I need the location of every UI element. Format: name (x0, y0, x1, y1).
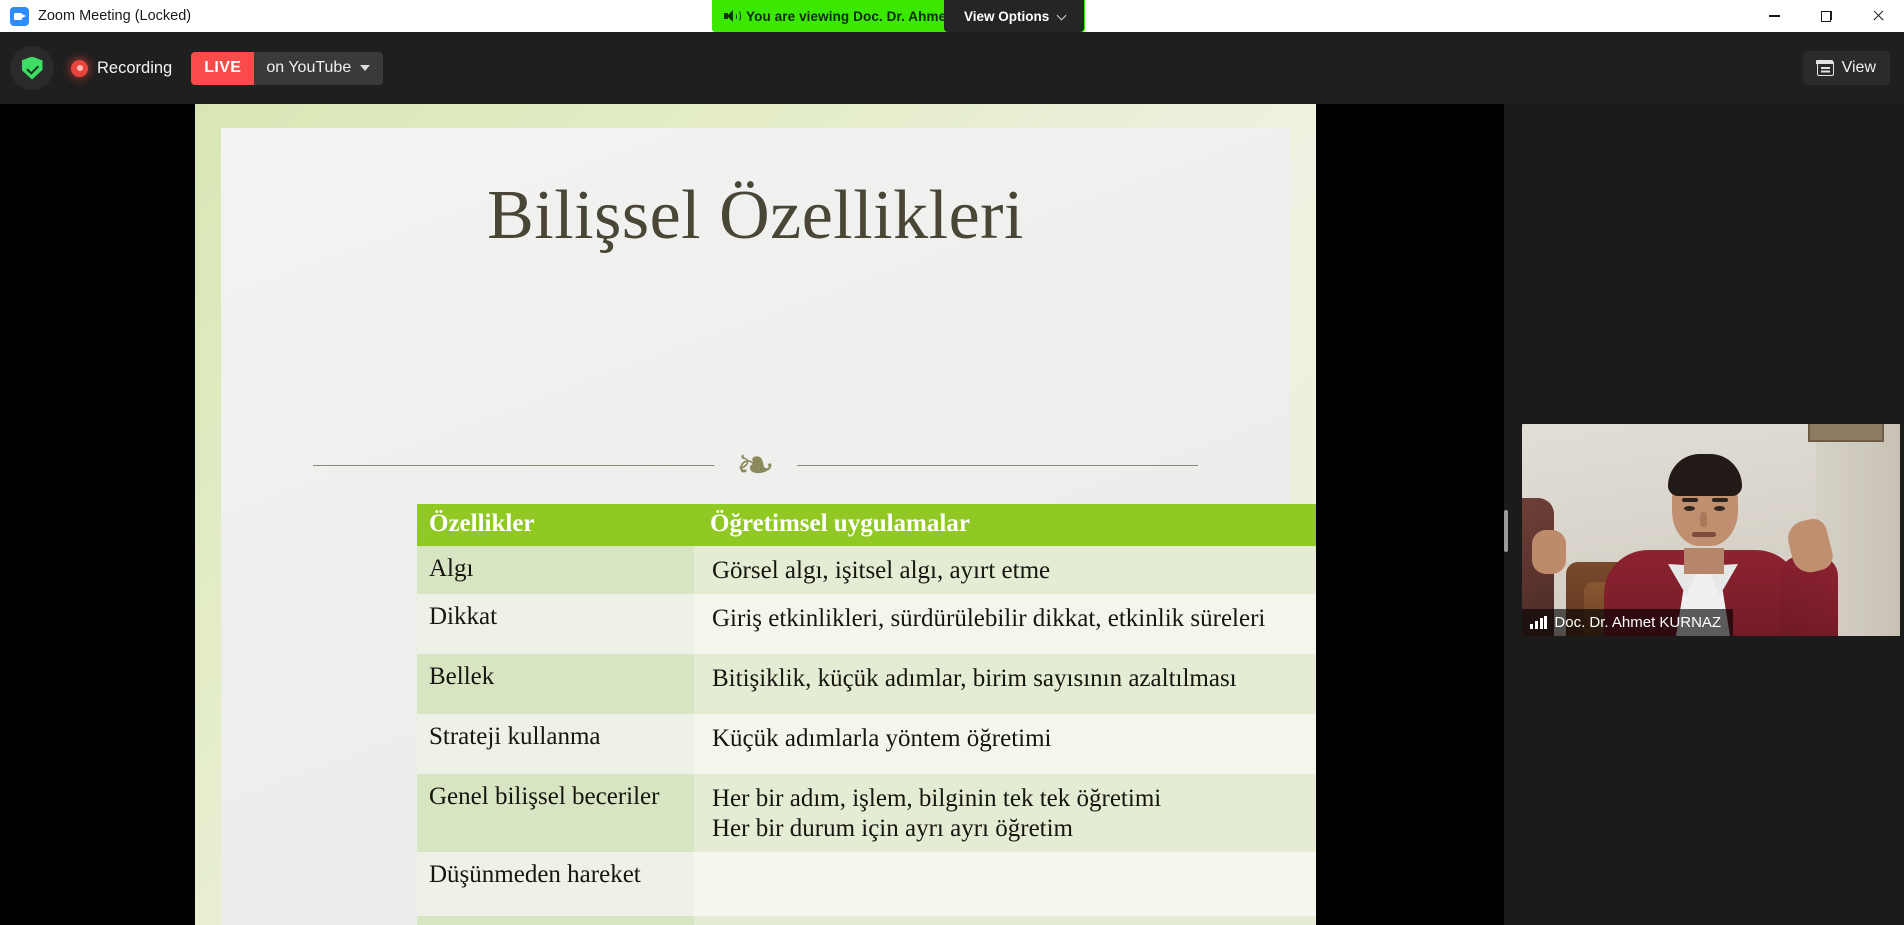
presentation-slide: Bilişsel Özellikleri ❧ Özellikler Öğreti… (195, 104, 1316, 925)
view-button[interactable]: View (1803, 51, 1890, 85)
participant-name: Doc. Dr. Ahmet KURNAZ (1554, 614, 1721, 631)
person-nose (1700, 512, 1707, 527)
person-mouth (1692, 532, 1716, 537)
minimize-button[interactable] (1748, 0, 1800, 32)
ornament-flourish-icon: ❧ (714, 444, 797, 488)
restore-icon (1821, 11, 1832, 22)
view-options-label: View Options (964, 9, 1049, 24)
table-row (417, 916, 1316, 925)
table-row: Dikkat Giriş etkinlikleri, sürdürülebili… (417, 594, 1316, 654)
signal-bars-icon (1530, 616, 1547, 629)
cell-practice (694, 852, 1316, 916)
window-title: Zoom Meeting (Locked) (38, 8, 191, 24)
table-row: Genel bilişsel beceriler Her bir adım, i… (417, 774, 1316, 852)
cell-practice: Görsel algı, işitsel algı, ayırt etme (694, 546, 1316, 594)
practice-line: Küçük adımlarla yöntem öğretimi (712, 724, 1316, 754)
person-neck (1684, 548, 1724, 574)
cell-practice: Bitişiklik, küçük adımlar, birim sayısın… (694, 654, 1316, 714)
person-hair (1668, 454, 1742, 496)
caret-down-icon (360, 65, 370, 71)
slide-divider: ❧ (313, 444, 1198, 488)
grid-view-icon (1817, 61, 1834, 76)
cell-practice: Her bir adım, işlem, bilginin tek tek öğ… (694, 774, 1316, 852)
cell-feature: Dikkat (417, 594, 694, 654)
practice-line: Görsel algı, işitsel algı, ayırt etme (712, 556, 1316, 586)
close-button[interactable] (1852, 0, 1904, 32)
cell-practice (694, 916, 1316, 925)
person-eye-left (1684, 506, 1695, 511)
person-eye-right (1714, 506, 1725, 511)
table-body: Algı Görsel algı, işitsel algı, ayırt et… (417, 546, 1316, 925)
column-header-practices: Öğretimsel uygulamalar (694, 504, 1316, 546)
features-table: Özellikler Öğretimsel uygulamalar Algı G… (417, 504, 1316, 925)
cell-feature: Düşünmeden hareket (417, 852, 694, 916)
video-background (1522, 424, 1900, 636)
participant-name-bar: Doc. Dr. Ahmet KURNAZ (1522, 609, 1733, 636)
cell-practice: Giriş etkinlikleri, sürdürülebilir dikka… (694, 594, 1316, 654)
stage-letterbox-right (1316, 104, 1504, 925)
restore-button[interactable] (1800, 0, 1852, 32)
live-badge: LIVE (191, 52, 254, 85)
live-platform: on YouTube (254, 52, 383, 85)
column-header-features: Özellikler (417, 504, 694, 546)
table-header-row: Özellikler Öğretimsel uygulamalar (417, 504, 1316, 546)
cell-practice: Küçük adımlarla yöntem öğretimi (694, 714, 1316, 774)
live-platform-label: on YouTube (266, 59, 351, 77)
zoom-meeting-window: Zoom Meeting (Locked) You are viewing Do… (0, 0, 1904, 925)
practice-line: Bitişiklik, küçük adımlar, birim sayısın… (712, 664, 1316, 694)
close-icon (1872, 10, 1884, 22)
panel-resize-handle[interactable] (1504, 510, 1508, 552)
cell-feature: Bellek (417, 654, 694, 714)
person-eyebrow-left (1682, 498, 1698, 502)
cell-feature: Algı (417, 546, 694, 594)
recording-label: Recording (97, 59, 172, 78)
shared-screen-stage[interactable]: Bilişsel Özellikleri ❧ Özellikler Öğreti… (0, 104, 1504, 925)
recording-indicator[interactable]: Recording (59, 46, 184, 90)
speaker-icon (724, 10, 739, 23)
chevron-down-icon (1057, 12, 1066, 21)
practice-line: Her bir adım, işlem, bilginin tek tek öğ… (712, 784, 1316, 814)
table-row: Bellek Bitişiklik, küçük adımlar, birim … (417, 654, 1316, 714)
view-options-button[interactable]: View Options (944, 0, 1084, 32)
person-eyebrow-right (1712, 498, 1728, 502)
table-row: Algı Görsel algı, işitsel algı, ayırt et… (417, 546, 1316, 594)
table-head: Özellikler Öğretimsel uygulamalar (417, 504, 1316, 546)
title-bar-left: Zoom Meeting (Locked) (0, 7, 191, 26)
shield-check-icon (22, 57, 43, 80)
view-button-label: View (1842, 59, 1876, 77)
window-controls (1748, 0, 1904, 32)
security-shield-button[interactable] (10, 46, 54, 90)
slide-title: Bilişsel Özellikleri (195, 176, 1316, 256)
table-row: Düşünmeden hareket (417, 852, 1316, 916)
cell-feature (417, 916, 694, 925)
zoom-logo-icon (10, 7, 29, 26)
cell-feature: Strateji kullanma (417, 714, 694, 774)
cell-feature: Genel bilişsel beceriler (417, 774, 694, 852)
meeting-toolbar: Recording LIVE on YouTube View (0, 32, 1904, 104)
practice-line: Her bir durum için ayrı ayrı öğretim (712, 814, 1316, 844)
participant-video-tile[interactable]: Doc. Dr. Ahmet KURNAZ (1522, 424, 1900, 636)
minimize-icon (1769, 15, 1780, 16)
live-stream-button[interactable]: LIVE on YouTube (191, 52, 383, 85)
recording-dot-icon (71, 60, 88, 77)
table-row: Strateji kullanma Küçük adımlarla yöntem… (417, 714, 1316, 774)
toolbar-left-group: Recording LIVE on YouTube (10, 32, 383, 104)
practice-line: Giriş etkinlikleri, sürdürülebilir dikka… (712, 604, 1316, 634)
person-left-hand (1532, 530, 1566, 574)
wall-picture (1808, 424, 1884, 442)
